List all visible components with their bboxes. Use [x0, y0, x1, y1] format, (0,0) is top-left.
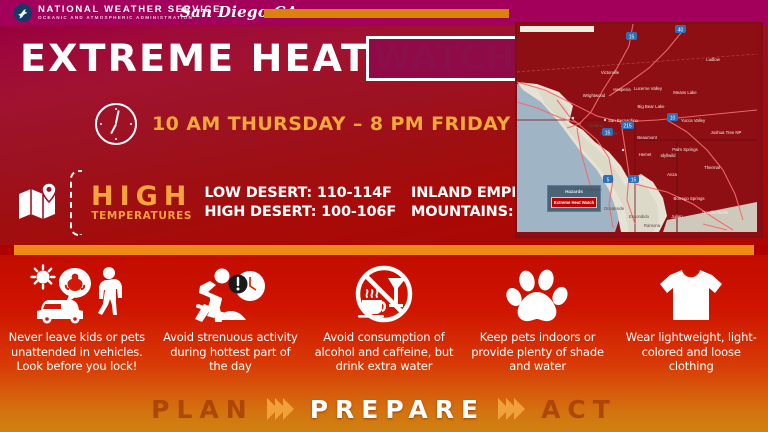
- svg-text:Anza: Anza: [667, 172, 677, 177]
- svg-text:15: 15: [629, 34, 635, 40]
- strenuous-activity-clock-icon: [180, 262, 280, 324]
- svg-text:215: 215: [623, 123, 632, 129]
- step-plan[interactable]: PLAN: [151, 395, 254, 424]
- temperatures-label: TEMPERATURES: [91, 210, 192, 223]
- svg-text:Thermal: Thermal: [704, 165, 720, 170]
- map-top-strip: [520, 26, 594, 32]
- safety-tip-2: Avoid strenuous activity during hottest …: [154, 262, 308, 387]
- svg-text:Borrego Springs: Borrego Springs: [673, 196, 704, 201]
- safety-tip-2-text: Avoid strenuous activity during hottest …: [160, 330, 302, 374]
- hazard-map[interactable]: Ludlow Victorville Hesperia Lucerne Vall…: [515, 22, 763, 238]
- svg-text:Escondido: Escondido: [629, 214, 650, 219]
- svg-text:Idyllwild: Idyllwild: [660, 153, 676, 158]
- safety-tip-4: Keep pets indoors or provide plenty of s…: [461, 262, 615, 387]
- alert-time-row: 10 AM THURSDAY – 8 PM FRIDAY: [95, 103, 511, 145]
- preparedness-steps-footer: PLAN PREPARE ACT: [0, 386, 768, 432]
- temp-high-desert: HIGH DESERT: 100-106F: [204, 203, 396, 222]
- svg-text:Hemet: Hemet: [639, 152, 652, 157]
- svg-text:15: 15: [631, 177, 637, 183]
- map-legend-title: Hazards: [548, 186, 600, 197]
- svg-text:40: 40: [678, 27, 684, 33]
- svg-text:Means Lake: Means Lake: [673, 90, 697, 95]
- svg-text:Mt. Laguna: Mt. Laguna: [684, 231, 706, 232]
- safety-tip-3: Avoid consumption of alcohol and caffein…: [307, 262, 461, 387]
- temperature-column-1: LOW DESERT: 110-114F HIGH DESERT: 100-10…: [204, 184, 396, 222]
- svg-text:Ocotillo Wells: Ocotillo Wells: [702, 210, 728, 215]
- svg-text:10: 10: [670, 115, 676, 121]
- noaa-seagull-icon: [14, 4, 32, 22]
- safety-tip-5: Wear lightweight, light-colored and loos…: [614, 262, 768, 387]
- step-prepare[interactable]: PREPARE: [310, 395, 485, 424]
- svg-text:Joshua Tree NP: Joshua Tree NP: [711, 130, 742, 135]
- watch-badge: WATCH: [366, 36, 523, 81]
- triple-chevron-right-icon: [270, 398, 294, 420]
- t-shirt-icon: [656, 262, 726, 324]
- high-temperatures-label: HIGH TEMPERATURES: [91, 183, 192, 223]
- alert-headline: EXTREME HEAT WATCH: [20, 36, 523, 81]
- svg-text:Hesperia: Hesperia: [613, 87, 631, 92]
- paw-print-icon: [503, 262, 573, 324]
- watch-badge-text: WATCH: [374, 40, 515, 76]
- svg-text:Oceanside: Oceanside: [604, 206, 625, 211]
- step-act[interactable]: ACT: [541, 395, 617, 424]
- clock-icon: [95, 103, 137, 145]
- safety-tip-3-text: Avoid consumption of alcohol and caffein…: [313, 330, 455, 374]
- agency-subtitle: OCEANIC AND ATMOSPHERIC ADMINISTRATION: [38, 15, 193, 21]
- high-label: HIGH: [91, 183, 192, 210]
- extreme-heat-watch-graphic: NATIONAL WEATHER SERVICE OCEANIC AND ATM…: [0, 0, 768, 432]
- map-legend: Hazards Extreme Heat Watch: [547, 185, 601, 212]
- alert-time-range: 10 AM THURSDAY – 8 PM FRIDAY: [152, 113, 511, 135]
- map-legend-swatch-extreme-heat-watch: Extreme Heat Watch: [551, 197, 597, 208]
- svg-text:Ludlow: Ludlow: [706, 57, 721, 62]
- safety-tip-1: Never leave kids or pets unattended in v…: [0, 262, 154, 387]
- map-pin-icon: [16, 182, 64, 224]
- svg-text:Victorville: Victorville: [601, 70, 620, 75]
- svg-text:15: 15: [605, 130, 611, 136]
- header-accent-bar: [264, 9, 509, 18]
- svg-text:Yucca Valley: Yucca Valley: [681, 118, 706, 123]
- bracket-left: [70, 170, 82, 236]
- safety-tip-4-text: Keep pets indoors or provide plenty of s…: [467, 330, 609, 374]
- headline-main-text: EXTREME HEAT: [20, 40, 369, 78]
- svg-text:Julian: Julian: [671, 214, 683, 219]
- child-in-car-heat-icon: [21, 262, 133, 324]
- svg-text:5: 5: [607, 177, 610, 183]
- svg-text:Big Bear Lake: Big Bear Lake: [638, 104, 666, 109]
- svg-text:Ramona: Ramona: [644, 223, 661, 228]
- svg-text:Beaumont: Beaumont: [637, 135, 657, 140]
- temp-low-desert: LOW DESERT: 110-114F: [204, 184, 396, 203]
- svg-text:Palm Springs: Palm Springs: [672, 147, 698, 152]
- triple-chevron-right-icon-2: [501, 398, 525, 420]
- svg-text:Ontario: Ontario: [589, 123, 604, 128]
- svg-text:Wrightwood: Wrightwood: [583, 93, 606, 98]
- safety-tip-5-text: Wear lightweight, light-colored and loos…: [620, 330, 762, 374]
- safety-tip-1-text: Never leave kids or pets unattended in v…: [6, 330, 148, 374]
- no-alcohol-caffeine-icon: [346, 262, 422, 324]
- orange-divider: [14, 245, 754, 255]
- svg-text:Lucerne Valley: Lucerne Valley: [634, 86, 663, 91]
- safety-tips-row: Never leave kids or pets unattended in v…: [0, 262, 768, 387]
